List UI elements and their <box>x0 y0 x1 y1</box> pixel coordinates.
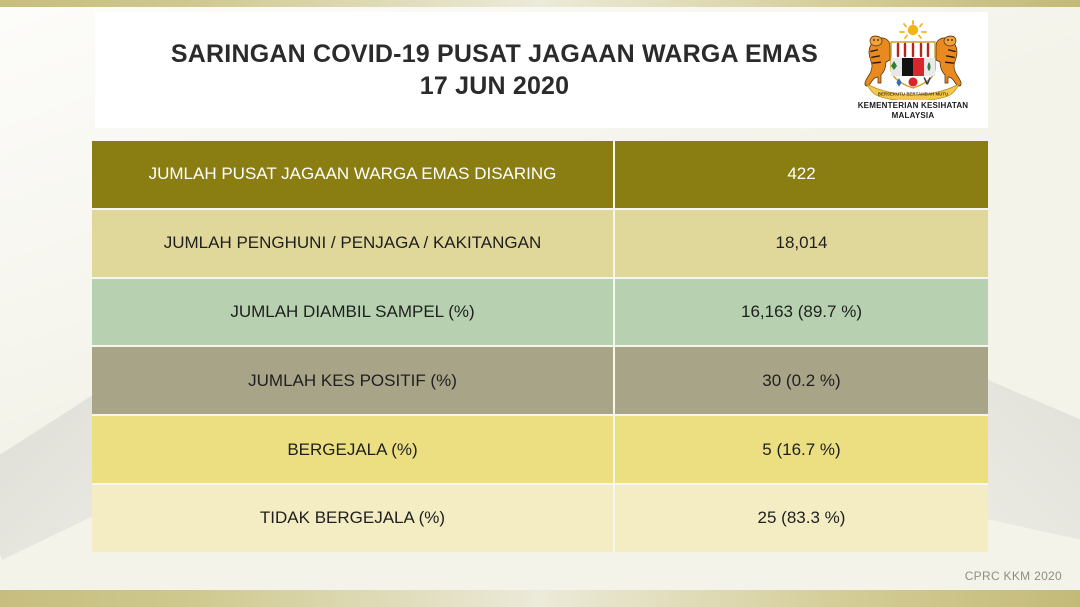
table-cell-label: TIDAK BERGEJALA (%) <box>92 485 613 552</box>
row-label: JUMLAH PUSAT JAGAAN WARGA EMAS DISARING <box>149 164 557 184</box>
footer-credit: CPRC KKM 2020 <box>965 569 1062 583</box>
row-value: 16,163 (89.7 %) <box>741 302 862 322</box>
header-card: SARINGAN COVID-19 PUSAT JAGAAN WARGA EMA… <box>95 12 988 128</box>
table-cell-value: 16,163 (89.7 %) <box>613 279 988 346</box>
table-row: JUMLAH KES POSITIF (%) 30 (0.2 %) <box>92 345 988 414</box>
table-cell-value: 25 (83.3 %) <box>613 485 988 552</box>
slide-canvas: SARINGAN COVID-19 PUSAT JAGAAN WARGA EMA… <box>0 0 1080 607</box>
row-value: 5 (16.7 %) <box>762 440 840 460</box>
svg-text:BERSEKUTU BERTAMBAH MUTU: BERSEKUTU BERTAMBAH MUTU <box>878 91 948 96</box>
row-value: 25 (83.3 %) <box>758 508 846 528</box>
malaysia-coat-of-arms-icon: BERSEKUTU BERTAMBAH MUTU <box>849 20 977 100</box>
top-accent-bar <box>0 0 1080 7</box>
row-value: 422 <box>787 164 815 184</box>
table-row: BERGEJALA (%) 5 (16.7 %) <box>92 414 988 483</box>
table-cell-value: 5 (16.7 %) <box>613 416 988 483</box>
table-cell-value: 422 <box>613 141 988 208</box>
table-cell-label: JUMLAH KES POSITIF (%) <box>92 347 613 414</box>
table-cell-label: JUMLAH DIAMBIL SAMPEL (%) <box>92 279 613 346</box>
table-row: JUMLAH PENGHUNI / PENJAGA / KAKITANGAN 1… <box>92 208 988 277</box>
table-row: TIDAK BERGEJALA (%) 25 (83.3 %) <box>92 483 988 552</box>
bottom-accent-bar <box>0 590 1080 607</box>
row-label: JUMLAH PENGHUNI / PENJAGA / KAKITANGAN <box>164 233 542 253</box>
title-line-2: 17 JUN 2020 <box>151 70 838 103</box>
table-cell-label: JUMLAH PENGHUNI / PENJAGA / KAKITANGAN <box>92 210 613 277</box>
page-title: SARINGAN COVID-19 PUSAT JAGAAN WARGA EMA… <box>95 38 838 103</box>
ministry-logo-text: KEMENTERIAN KESIHATAN MALAYSIA <box>858 101 969 121</box>
table-row: JUMLAH DIAMBIL SAMPEL (%) 16,163 (89.7 %… <box>92 277 988 346</box>
ministry-name-line-2: MALAYSIA <box>858 111 969 121</box>
table-row: JUMLAH PUSAT JAGAAN WARGA EMAS DISARING … <box>92 141 988 208</box>
statistics-table: JUMLAH PUSAT JAGAAN WARGA EMAS DISARING … <box>92 141 988 552</box>
row-value: 18,014 <box>776 233 828 253</box>
title-line-1: SARINGAN COVID-19 PUSAT JAGAAN WARGA EMA… <box>151 38 838 71</box>
table-cell-value: 30 (0.2 %) <box>613 347 988 414</box>
ministry-name-line-1: KEMENTERIAN KESIHATAN <box>858 101 969 111</box>
table-cell-label: BERGEJALA (%) <box>92 416 613 483</box>
row-label: JUMLAH KES POSITIF (%) <box>248 371 457 391</box>
table-cell-value: 18,014 <box>613 210 988 277</box>
table-cell-label: JUMLAH PUSAT JAGAAN WARGA EMAS DISARING <box>92 141 613 208</box>
ministry-logo: BERSEKUTU BERTAMBAH MUTU KEMENTERIAN KES… <box>838 12 988 128</box>
row-label: JUMLAH DIAMBIL SAMPEL (%) <box>230 302 474 322</box>
row-label: BERGEJALA (%) <box>287 440 417 460</box>
row-value: 30 (0.2 %) <box>762 371 840 391</box>
row-label: TIDAK BERGEJALA (%) <box>260 508 445 528</box>
